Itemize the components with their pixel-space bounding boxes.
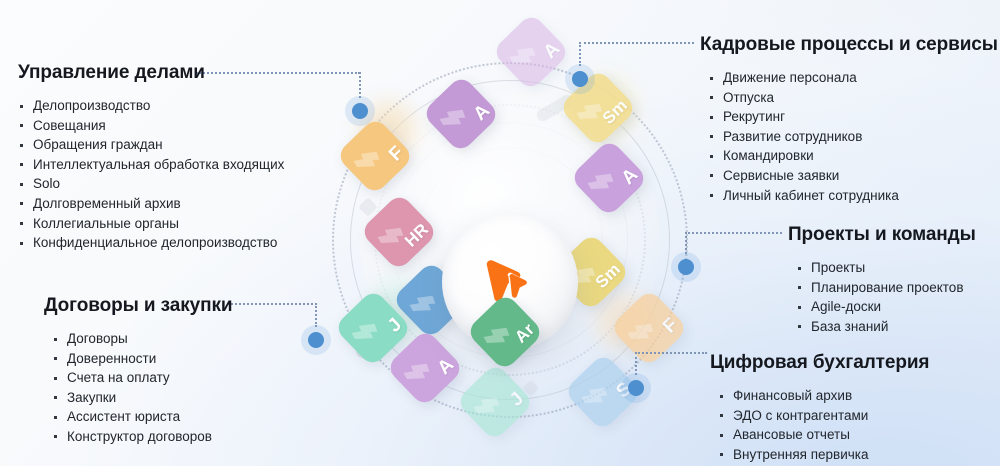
list-item: Agile-доски: [796, 297, 976, 317]
connector-node-case-management[interactable]: [345, 96, 375, 126]
list-item: Финансовый архив: [718, 386, 929, 406]
list-item: Командировки: [708, 146, 998, 166]
infographic-canvas: F A Sm HR A S Sm J: [0, 0, 1000, 466]
list-item: Проекты: [796, 258, 976, 278]
leader-line-hr-h: [579, 42, 694, 44]
list-item: Делопроизводство: [18, 96, 284, 116]
list-item: Коллегиальные органы: [18, 214, 284, 234]
leader-line-case-management-v: [359, 72, 361, 98]
chevron-watermark-icon: [573, 371, 621, 419]
block-title-hr-processes: Кадровые процессы и сервисы: [700, 34, 998, 56]
list-item: Доверенности: [52, 349, 232, 369]
connector-node-hr-processes[interactable]: [565, 64, 595, 94]
block-hr-processes: Кадровые процессы и сервисы Движение пер…: [700, 34, 998, 205]
list-item: Конфиденциальное делопроизводство: [18, 233, 284, 253]
leader-line-hr-v: [579, 42, 581, 66]
block-list-contracts-procurement: Договоры Доверенности Счета на оплату За…: [44, 329, 232, 447]
list-item: Рекрутинг: [708, 107, 998, 127]
list-item: Отпуска: [708, 88, 998, 108]
leader-line-contracts-h: [228, 303, 317, 305]
leader-line-contracts-v: [315, 303, 317, 327]
block-title-projects-teams: Проекты и команды: [788, 224, 976, 246]
block-contracts-procurement: Договоры и закупки Договоры Доверенности…: [44, 295, 232, 447]
list-item: Конструктор договоров: [52, 427, 232, 447]
block-title-digital-accounting: Цифровая бухгалтерия: [710, 352, 929, 374]
block-title-contracts-procurement: Договоры и закупки: [44, 295, 232, 317]
leader-line-accounting-h: [635, 352, 707, 354]
block-list-hr-processes: Движение персонала Отпуска Рекрутинг Раз…: [700, 68, 998, 205]
chevron-watermark-icon: [465, 381, 513, 429]
list-item: Планирование проектов: [796, 278, 976, 298]
leader-line-projects-h: [685, 232, 782, 234]
list-item: Долговременный архив: [18, 194, 284, 214]
connector-node-projects[interactable]: [671, 252, 701, 282]
list-item: Обращения граждан: [18, 135, 284, 155]
list-item: База знаний: [796, 317, 976, 337]
list-item: Ассистент юриста: [52, 407, 232, 427]
list-item: Интеллектуальная обработка входящих: [18, 155, 284, 175]
list-item: Внутренняя первичка: [718, 445, 929, 465]
connector-node-accounting[interactable]: [621, 373, 651, 403]
list-item: Авансовые отчеты: [718, 425, 929, 445]
list-item: Закупки: [52, 388, 232, 408]
block-digital-accounting: Цифровая бухгалтерия Финансовый архив ЭД…: [710, 352, 929, 464]
chevron-watermark-icon: [395, 347, 443, 395]
block-list-digital-accounting: Финансовый архив ЭДО с контрагентами Ава…: [710, 386, 929, 464]
list-item: ЭДО с контрагентами: [718, 406, 929, 426]
list-item: Движение персонала: [708, 68, 998, 88]
list-item: Сервисные заявки: [708, 166, 998, 186]
list-item: Развитие сотрудников: [708, 127, 998, 147]
block-list-projects-teams: Проекты Планирование проектов Agile-доск…: [788, 258, 976, 336]
block-list-case-management: Делопроизводство Совещания Обращения гра…: [18, 96, 284, 253]
connector-node-contracts[interactable]: [301, 325, 331, 355]
block-projects-teams: Проекты и команды Проекты Планирование п…: [788, 224, 976, 336]
list-item: Счета на оплату: [52, 368, 232, 388]
leader-line-accounting-v: [635, 352, 637, 375]
list-item: Договоры: [52, 329, 232, 349]
chevron-watermark-icon: [343, 307, 391, 355]
block-title-case-management: Управление делами: [18, 62, 284, 84]
list-item: Личный кабинет сотрудника: [708, 186, 998, 206]
list-item: Совещания: [18, 116, 284, 136]
leader-line-projects-v: [685, 232, 687, 254]
list-item: Solo: [18, 174, 284, 194]
block-case-management: Управление делами Делопроизводство Совещ…: [18, 62, 284, 253]
